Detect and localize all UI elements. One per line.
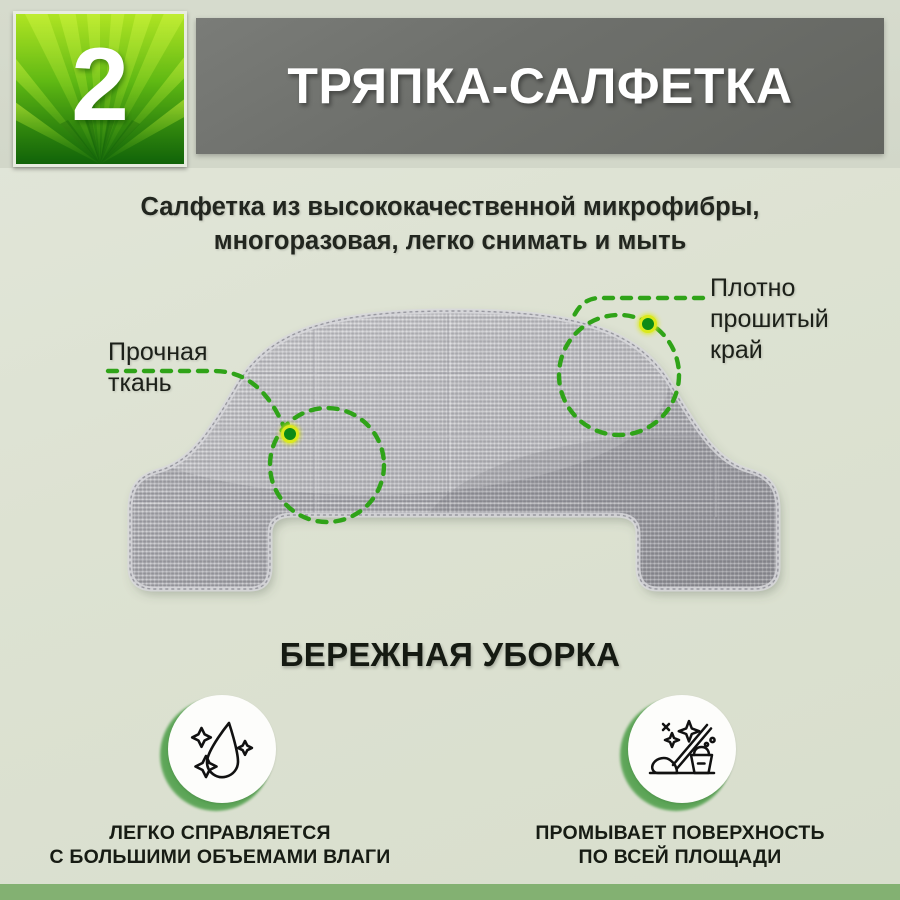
bottom-accent-bar (0, 884, 900, 900)
infographic-page: 2 ТРЯПКА-САЛФЕТКА Салфетка из высококаче… (0, 0, 900, 900)
feature-mop-line-1: ПРОМЫВАЕТ ПОВЕРХНОСТЬ (535, 821, 824, 845)
feature-list: ЛЕГКО СПРАВЛЯЕТСЯ С БОЛЬШИМИ ОБЪЕМАМИ ВЛ… (0, 695, 900, 870)
feature-mop-line-2: ПО ВСЕЙ ПЛОЩАДИ (535, 845, 824, 869)
page-title: ТРЯПКА-САЛФЕТКА (287, 57, 792, 115)
water-droplet-sparkle-icon (185, 712, 259, 786)
annotation-edge: Плотно прошитый край (710, 273, 829, 366)
feature-caption-water: ЛЕГКО СПРАВЛЯЕТСЯ С БОЛЬШИМИ ОБЪЕМАМИ ВЛ… (49, 821, 390, 869)
feature-item-mop: ПРОМЫВАЕТ ПОВЕРХНОСТЬ ПО ВСЕЙ ПЛОЩАДИ (530, 695, 830, 870)
icon-disc (628, 695, 736, 803)
feature-item-water: ЛЕГКО СПРАВЛЯЕТСЯ С БОЛЬШИМИ ОБЪЕМАМИ ВЛ… (70, 695, 370, 870)
annotation-edge-line-2: прошитый (710, 304, 829, 335)
section-heading: БЕРЕЖНАЯ УБОРКА (0, 636, 900, 674)
annotation-fabric-line-2: ткань (108, 368, 208, 399)
step-number-badge: 2 (13, 11, 187, 167)
feature-caption-mop: ПРОМЫВАЕТ ПОВЕРХНОСТЬ ПО ВСЕЙ ПЛОЩАДИ (535, 821, 824, 869)
annotation-fabric: Прочная ткань (108, 337, 208, 399)
header-band: 2 ТРЯПКА-САЛФЕТКА (0, 0, 900, 168)
annotation-edge-line-3: край (710, 335, 829, 366)
feature-icon-wrap (624, 695, 736, 807)
annotation-fabric-line-1: Прочная (108, 337, 208, 368)
microfiber-cloth-image (118, 295, 790, 615)
subtitle-line-2: многоразовая, легко снимать и мыть (0, 224, 900, 258)
title-bar: ТРЯПКА-САЛФЕТКА (196, 18, 884, 154)
annotation-edge-line-1: Плотно (710, 273, 829, 304)
feature-water-line-2: С БОЛЬШИМИ ОБЪЕМАМИ ВЛАГИ (49, 845, 390, 869)
subtitle-line-1: Салфетка из высококачественной микрофибр… (0, 190, 900, 224)
badge-number-label: 2 (16, 14, 184, 164)
mop-bucket-sparkle-icon (644, 711, 720, 787)
icon-disc (168, 695, 276, 803)
feature-icon-wrap (164, 695, 276, 807)
feature-water-line-1: ЛЕГКО СПРАВЛЯЕТСЯ (49, 821, 390, 845)
subtitle: Салфетка из высококачественной микрофибр… (0, 190, 900, 258)
